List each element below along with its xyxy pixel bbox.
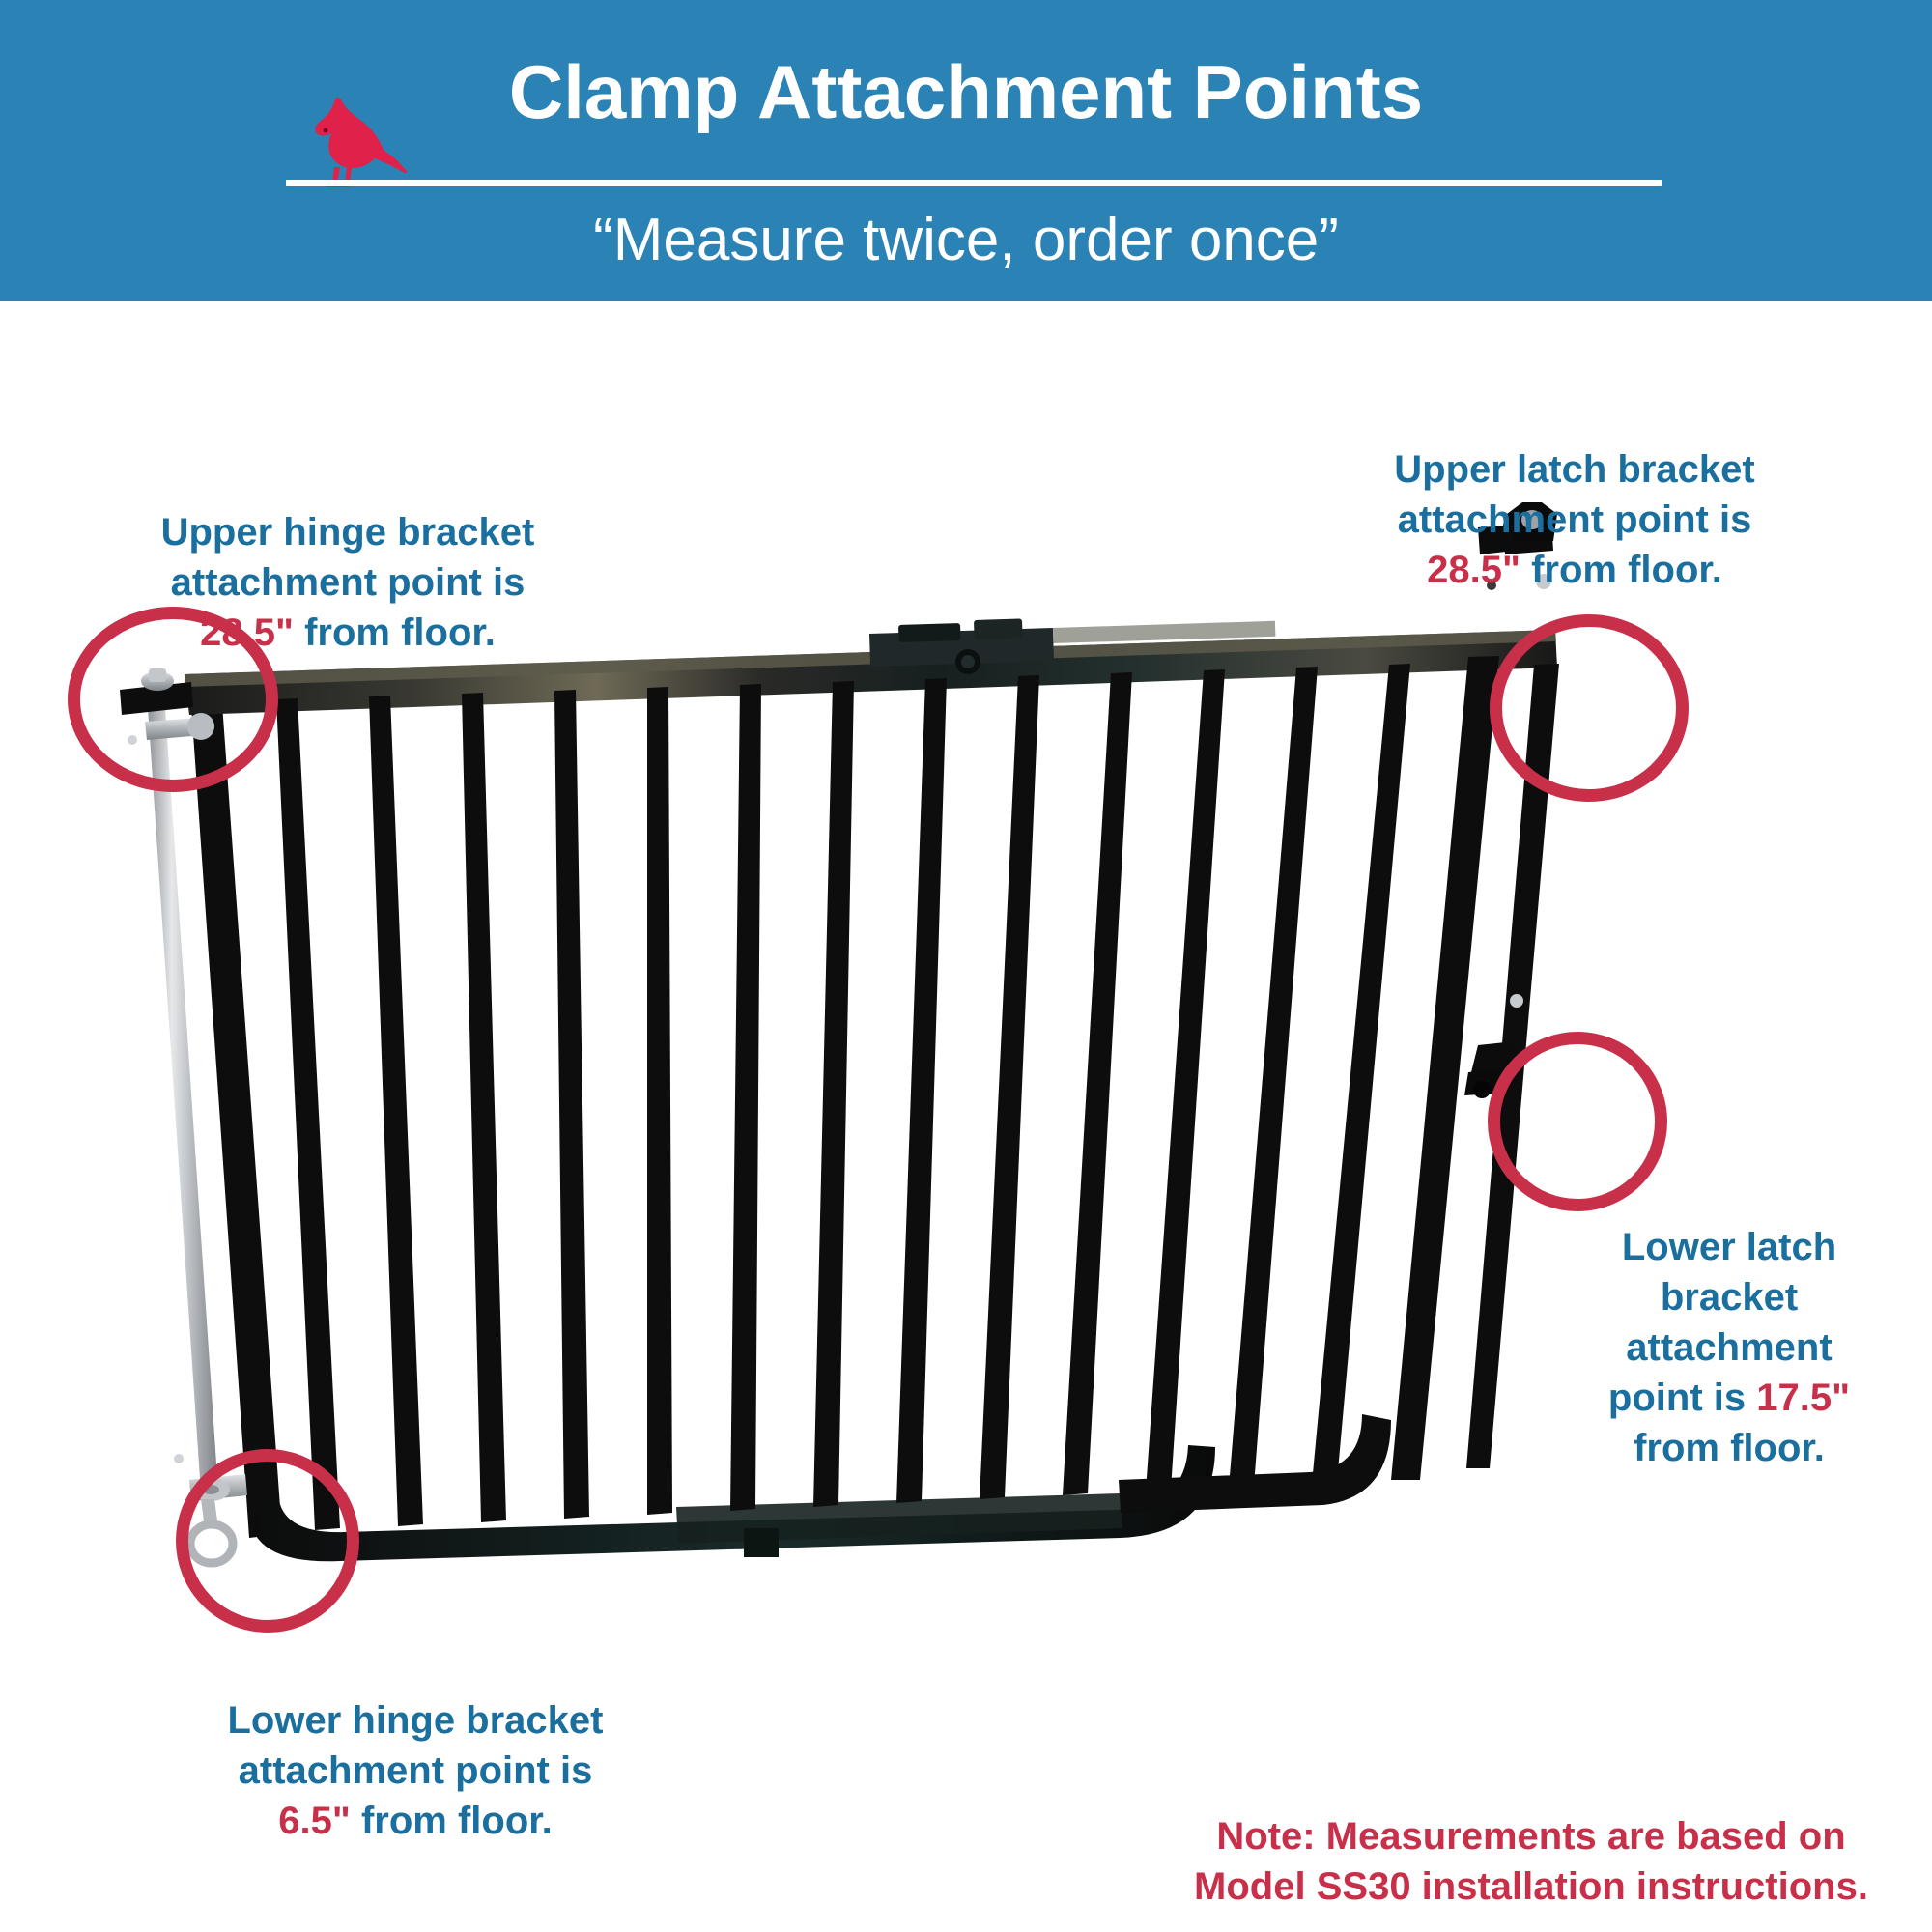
callout-lower-latch: Lower latch bracket attachment point is … [1536,1222,1922,1473]
callout-upper-latch-line2: attachment point is [1398,498,1752,541]
callout-upper-latch-line3: from floor. [1520,549,1722,591]
measurement-note-line2: Model SS30 installation instructions. [1194,1865,1868,1908]
measurement-note: Note: Measurements are based on Model SS… [1130,1811,1932,1912]
callout-upper-hinge-line1: Upper hinge bracket [161,511,535,554]
callout-upper-latch-measurement: 28.5" [1427,549,1520,591]
callout-upper-hinge-line2: attachment point is [171,561,526,604]
page-subtitle: “Measure twice, order once” [0,211,1932,270]
callout-lower-latch-line2: bracket [1661,1276,1798,1319]
lower-hinge-highlight-circle [176,1449,359,1633]
callout-lower-latch-line4: point is [1608,1377,1756,1419]
callout-upper-latch-line1: Upper latch bracket [1394,448,1754,491]
callout-upper-hinge-line3: from floor. [294,611,496,654]
callout-lower-hinge-line1: Lower hinge bracket [228,1699,604,1742]
callout-upper-latch: Upper latch bracket attachment point is … [1294,444,1855,595]
callout-lower-hinge: Lower hinge bracket attachment point is … [126,1695,705,1846]
callout-lower-latch-line3: attachment [1626,1326,1832,1369]
callout-lower-latch-measurement: 17.5" [1756,1377,1850,1419]
gate-vertical-bars [276,664,1410,1530]
lower-latch-highlight-circle [1488,1032,1667,1211]
header-divider [286,180,1662,186]
measurement-note-line1: Note: Measurements are based on [1216,1815,1845,1858]
callout-lower-hinge-line3: from floor. [351,1800,553,1842]
upper-latch-highlight-circle [1490,614,1689,802]
page-header: Clamp Attachment Points “Measure twice, … [0,0,1932,301]
callout-lower-hinge-measurement: 6.5" [278,1800,351,1842]
callout-lower-latch-line5: from floor. [1634,1427,1825,1469]
gate-frame [185,618,1557,1561]
page-title: Clamp Attachment Points [0,54,1932,129]
callout-lower-hinge-line2: attachment point is [239,1749,593,1792]
callout-upper-hinge-measurement: 28.5" [200,611,294,654]
callout-upper-hinge: Upper hinge bracket attachment point is … [77,507,618,658]
callout-lower-latch-line1: Lower latch [1622,1226,1836,1268]
